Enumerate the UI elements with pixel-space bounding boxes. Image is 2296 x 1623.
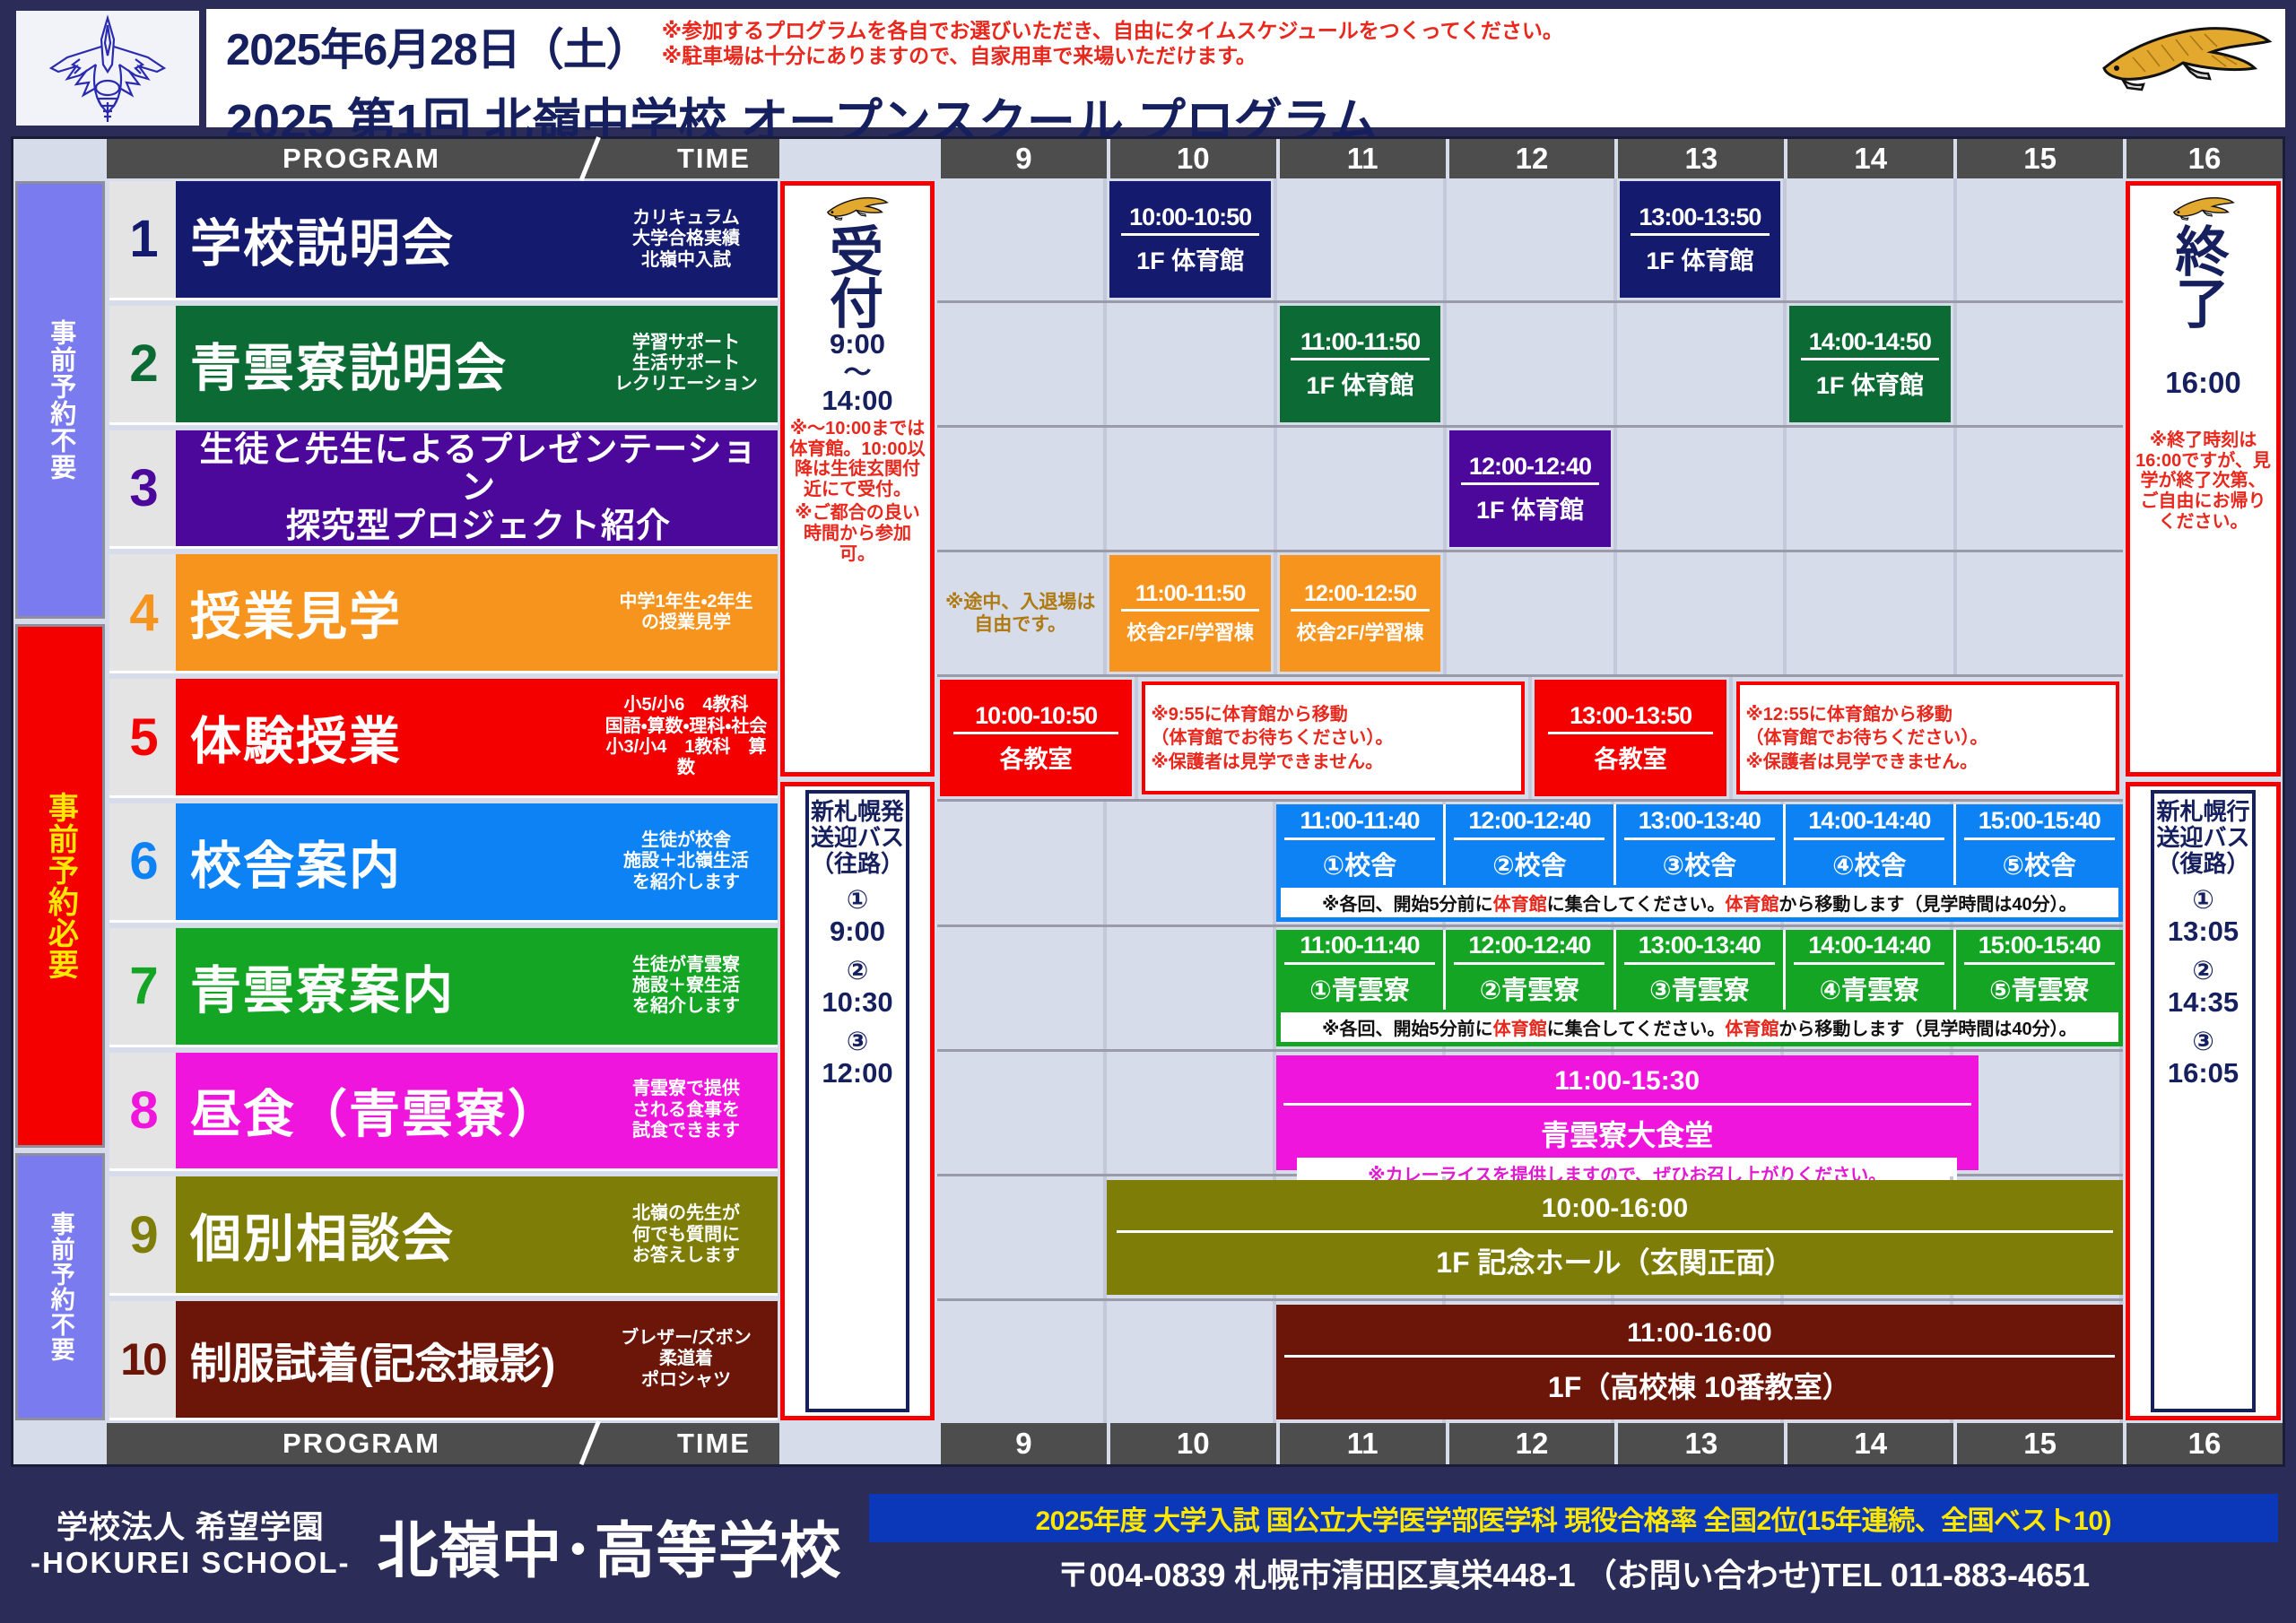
consultation-block[interactable]: 10:00-16:00 1F 記念ホール（玄関正面） (1107, 1180, 2123, 1295)
flying-bird-icon (2171, 193, 2236, 225)
program-row-5[interactable]: 5 体験授業 小5/小6 4教科 国語・算数・理科・社会 小3/小4 1教科 算… (109, 679, 778, 798)
program-name: 体験授業 (176, 679, 598, 795)
reception-time-tilde: 〜 (844, 359, 872, 387)
return-bus-title: 新札幌行 送迎バス （復路） (2156, 799, 2249, 877)
program-name: 青雲寮案内 (176, 928, 598, 1045)
poster-root: 2025年6月28日（土） ※参加するプログラムを各自でお選びいただき、自由にタ… (0, 0, 2296, 1623)
program-row-2[interactable]: 2 青雲寮説明会 学習サポート 生活サポート レクリエーション (109, 306, 778, 425)
slot-cell (1787, 552, 1956, 674)
slot-cell (1957, 303, 2123, 425)
campus-tour-block[interactable]: 11:00-11:40 ①校舎 12:00-12:40 ②校舎 13:00-13… (1276, 804, 2123, 921)
reservation-column: 事前予約不要 事前予約必要 事前予約不要 (13, 139, 107, 1464)
dorm-tour-slot-2[interactable]: 12:00-12:40 ②青雲寮 (1446, 930, 1615, 1010)
slot-cell (937, 1176, 1107, 1298)
slot-cell (1617, 428, 1787, 550)
slot-cell (937, 1052, 1107, 1174)
event-class-visit-1200[interactable]: 12:00-12:50 校舎2F/学習棟 (1280, 555, 1440, 672)
dorm-tour-slot-5[interactable]: 15:00-15:40 ⑤青雲寮 (1956, 930, 2123, 1010)
footer-program-time: PROGRAM TIME (107, 1423, 779, 1464)
program-row-9[interactable]: 9 個別相談会 北嶺の先生が 何でも質問に お答えします (109, 1176, 778, 1296)
flying-bird-icon (2097, 22, 2276, 97)
reception-time-to: 14:00 (822, 386, 892, 415)
reservation-group-booking-required: 事前予約必要 (15, 624, 105, 1148)
dorm-tour-block[interactable]: 11:00-11:40 ①青雲寮 12:00-12:40 ②青雲寮 13:00-… (1276, 930, 2123, 1046)
program-name: 制服試着(記念撮影) (176, 1301, 598, 1418)
return-bus-no-2: ② (2192, 955, 2214, 986)
ending-column: 終 了 16:00 ※終了時刻は16:00ですが、見学が終了次第、ご自由にお帰り… (2123, 178, 2283, 1423)
program-name: 授業見学 (176, 554, 598, 671)
reception-word-2: 付 (830, 279, 885, 331)
grid-footer-row: PROGRAM TIME 9 10 11 12 13 14 15 16 (107, 1423, 2283, 1464)
campus-tour-slot-1[interactable]: 11:00-11:40 ①校舎 (1276, 804, 1446, 884)
program-subtext: 学習サポート 生活サポート レクリエーション (598, 306, 778, 422)
ending-word-2: 了 (2176, 279, 2231, 331)
slot-cell (937, 927, 1107, 1049)
campus-tour-slot-3[interactable]: 13:00-13:40 ③校舎 (1616, 804, 1786, 884)
consultation-time: 10:00-16:00 (1117, 1193, 2112, 1233)
reception-note-2: ※ご都合の良い時間から参加可。 (787, 499, 928, 564)
col-header-program: PROGRAM (283, 143, 440, 175)
outbound-bus-time-3: 12:00 (822, 1057, 892, 1089)
slot-cell (1107, 927, 1276, 1049)
event-school-briefing-1300[interactable]: 13:00-13:50 1F 体育館 (1620, 181, 1780, 298)
slot-cell[interactable]: 12:00-12:50 校舎2F/学習棟 (1277, 552, 1447, 674)
hour-footer-9: 9 (937, 1423, 1107, 1464)
slot-cell: ※途中、入退場は自由です。 (937, 552, 1107, 674)
slot-cell: ※9:55に体育館から移動 （体育館でお待ちください）。 ※保護者は見学できませ… (1138, 677, 1532, 799)
event-date: 2025年6月28日（土） (206, 13, 649, 78)
class-visit-note: ※途中、入退場は自由です。 (940, 555, 1100, 672)
slot-cell (1447, 178, 1616, 300)
program-row-6[interactable]: 6 校舎案内 生徒が校舎 施設＋北嶺生活 を紹介します (109, 803, 778, 923)
outbound-bus-box: 新札幌発 送迎バス （往路） ① 9:00 ② 10:30 ③ 12:00 (780, 782, 935, 1420)
slot-cell (1107, 303, 1276, 425)
ending-note: ※終了時刻は16:00ですが、見学が終了次第、ご自由にお帰りください。 (2132, 400, 2274, 532)
program-name: 生徒と先生によるプレゼンテーション 探究型プロジェクト紹介 (176, 430, 778, 547)
uniform-fitting-block[interactable]: 11:00-16:00 1F（高校棟 10番教室） (1276, 1305, 2123, 1419)
slot-cell (1617, 552, 1787, 674)
slot-row-1: 10:00-10:50 1F 体育館 13:00-13:50 1F 体育館 (937, 178, 2123, 303)
slot-cell[interactable]: 10:00-10:50 各教室 (937, 677, 1138, 799)
slot-cell (1617, 303, 1787, 425)
program-subtext: 中学1年生・2年生 の授業見学 (598, 554, 778, 671)
program-name: 学校説明会 (176, 181, 598, 298)
footer-address: 〒004-0839 札幌市清田区真栄448-1 （お問い合わせ)TEL 011-… (869, 1542, 2278, 1596)
col-header-time: TIME (677, 143, 751, 175)
timeslot-column: 10:00-10:50 1F 体育館 13:00-13:50 1F 体育館 (937, 178, 2123, 1423)
footer: 学校法人 希望学園 -HOKUREI SCHOOL- 北嶺中･高等学校 2025… (0, 1467, 2296, 1623)
event-dorm-briefing-1400[interactable]: 14:00-14:50 1F 体育館 (1789, 306, 1950, 422)
program-name: 校舎案内 (176, 803, 598, 920)
program-number: 10 (109, 1301, 176, 1418)
program-name-column: 1 学校説明会 カリキュラム 大学合格実績 北嶺中入試 2 青雲寮説明会 学習サ… (107, 178, 779, 1423)
trial-lesson-warning-am: ※9:55に体育館から移動 （体育館でお待ちください）。 ※保護者は見学できませ… (1142, 681, 1525, 794)
slot-cell (937, 1301, 1107, 1423)
achievement-banner: 2025年度 大学入試 国公立大学医学部医学科 現役合格率 全国2位(15年連続… (869, 1494, 2278, 1542)
slot-cell[interactable]: 11:00-11:50 1F 体育館 (1277, 303, 1447, 425)
program-number: 4 (109, 554, 176, 671)
header-program-time: PROGRAM TIME (107, 139, 779, 178)
program-number: 8 (109, 1053, 176, 1169)
flying-bird-icon (825, 193, 890, 225)
event-school-briefing-1000[interactable]: 10:00-10:50 1F 体育館 (1109, 181, 1270, 298)
slot-cell (1787, 178, 1956, 300)
campus-tour-slot-2[interactable]: 12:00-12:40 ②校舎 (1446, 804, 1615, 884)
program-name: 青雲寮説明会 (176, 306, 598, 422)
header-note-2: ※駐車場は十分にありますので、自家用車で来場いただけます。 (662, 43, 1563, 68)
hour-footer-16: 16 (2123, 1423, 2283, 1464)
slot-cell (1107, 802, 1276, 924)
slot-row-9: 10:00-16:00 1F 記念ホール（玄関正面） (937, 1176, 2123, 1301)
slot-cell (1957, 178, 2123, 300)
hour-header-10: 10 (1107, 139, 1276, 178)
hour-header-11: 11 (1276, 139, 1446, 178)
return-bus-no-3: ③ (2192, 1026, 2214, 1057)
slot-cell (1277, 428, 1447, 550)
program-number: 1 (109, 181, 176, 298)
ending-time: 16:00 (2165, 366, 2240, 400)
slot-cell[interactable]: 12:00-12:40 1F 体育館 (1447, 428, 1616, 550)
dorm-tour-slot-1[interactable]: 11:00-11:40 ①青雲寮 (1276, 930, 1446, 1010)
lunch-block[interactable]: 11:00-15:30 青雲寮大食堂 ※カレーライスを提供しますので、ぜひお召し… (1276, 1055, 1979, 1170)
program-row-1[interactable]: 1 学校説明会 カリキュラム 大学合格実績 北嶺中入試 (109, 181, 778, 300)
reception-word-1: 受 (830, 227, 885, 279)
ending-word-1: 終 (2176, 227, 2231, 279)
outbound-bus-no-3: ③ (847, 1026, 869, 1057)
hour-header-14: 14 (1784, 139, 1953, 178)
slot-cell (1957, 428, 2123, 550)
slot-cell (1277, 178, 1447, 300)
slot-row-4: ※途中、入退場は自由です。 11:00-11:50 校舎2F/学習棟 12:00… (937, 552, 2123, 677)
program-number: 2 (109, 306, 176, 422)
col-footer-time: TIME (677, 1428, 751, 1460)
slot-row-8: 11:00-15:30 青雲寮大食堂 ※カレーライスを提供しますので、ぜひお召し… (937, 1052, 2123, 1176)
outbound-bus-title: 新札幌発 送迎バス （往路） (811, 799, 904, 877)
outbound-bus-no-1: ① (847, 884, 869, 916)
lunch-time: 11:00-15:30 (1283, 1066, 1971, 1106)
slot-cell (1787, 428, 1956, 550)
ending-box: 終 了 16:00 ※終了時刻は16:00ですが、見学が終了次第、ご自由にお帰り… (2126, 181, 2281, 777)
header: 2025年6月28日（土） ※参加するプログラムを各自でお選びいただき、自由にタ… (0, 0, 2296, 136)
slot-cell: ※12:55に体育館から移動 （体育館でお待ちください）。 ※保護者は見学できま… (1733, 677, 2123, 799)
return-bus-time-2: 14:35 (2168, 986, 2239, 1019)
slot-row-6: 11:00-11:40 ①校舎 12:00-12:40 ②校舎 13:00-13… (937, 802, 2123, 926)
outbound-bus-time-2: 10:30 (822, 986, 892, 1019)
slot-cell[interactable]: 14:00-14:50 1F 体育館 (1787, 303, 1956, 425)
campus-tour-slot-4[interactable]: 14:00-14:40 ④校舎 (1786, 804, 1955, 884)
slot-cell[interactable]: 13:00-13:50 各教室 (1532, 677, 1733, 799)
reservation-group-no-booking-2: 事前予約不要 (15, 1153, 105, 1420)
reservation-group-no-booking-1: 事前予約不要 (15, 181, 105, 619)
slot-row-7: 11:00-11:40 ①青雲寮 12:00-12:40 ②青雲寮 13:00-… (937, 927, 2123, 1052)
program-subtext: 生徒が青雲寮 施設＋寮生活 を紹介します (598, 928, 778, 1045)
program-subtext: 青雲寮で提供 される食事を 試食できます (598, 1053, 778, 1169)
program-name: 個別相談会 (176, 1176, 598, 1293)
reception-time-from: 9:00 (830, 330, 885, 359)
slot-row-3: 12:00-12:40 1F 体育館 (937, 428, 2123, 552)
program-number: 5 (109, 679, 176, 795)
outbound-bus-inner: 新札幌発 送迎バス （往路） ① 9:00 ② 10:30 ③ 12:00 (805, 790, 909, 1412)
hour-header-12: 12 (1446, 139, 1615, 178)
slot-cell (937, 802, 1107, 924)
school-crest-icon (16, 11, 199, 126)
header-note-1: ※参加するプログラムを各自でお選びいただき、自由にタイムスケジュールをつくってく… (662, 18, 1563, 43)
footer-left: 学校法人 希望学園 -HOKUREI SCHOOL- 北嶺中･高等学校 (0, 1501, 842, 1590)
slash-divider-icon (579, 1420, 601, 1465)
slot-cell (1107, 1052, 1276, 1174)
program-subtext: 生徒が校舎 施設＋北嶺生活 を紹介します (598, 803, 778, 920)
hour-header-13: 13 (1614, 139, 1784, 178)
footer-organization: 学校法人 希望学園 -HOKUREI SCHOOL- (30, 1510, 351, 1580)
outbound-bus-no-2: ② (847, 955, 869, 986)
uniform-time: 11:00-16:00 (1284, 1318, 2114, 1358)
program-number: 3 (109, 430, 176, 547)
slot-cell (937, 178, 1107, 300)
grid-header-row: PROGRAM TIME 9 10 11 12 13 14 15 16 (107, 139, 2283, 178)
slot-cell (1107, 428, 1276, 550)
campus-tour-slot-5[interactable]: 15:00-15:40 ⑤校舎 (1956, 804, 2123, 884)
program-subtext: ブレザー/ズボン 柔道着 ポロシャツ (598, 1301, 778, 1418)
hour-footer-14: 14 (1784, 1423, 1953, 1464)
return-bus-no-1: ① (2192, 884, 2214, 916)
footer-org-jp: 学校法人 希望学園 (30, 1510, 351, 1546)
program-subtext: 小5/小6 4教科 国語・算数・理科・社会 小3/小4 1教科 算数 (598, 679, 778, 795)
event-class-visit-1100[interactable]: 11:00-11:50 校舎2F/学習棟 (1109, 555, 1270, 672)
col-footer-program: PROGRAM (283, 1428, 440, 1460)
program-row-8[interactable]: 8 昼食（青雲寮） 青雲寮で提供 される食事を 試食できます (109, 1053, 778, 1172)
hour-footer-12: 12 (1446, 1423, 1615, 1464)
footer-school-name: 北嶺中･高等学校 (378, 1501, 842, 1590)
hour-header-15: 15 (1953, 139, 2123, 178)
return-bus-inner: 新札幌行 送迎バス （復路） ① 13:05 ② 14:35 ③ 16:05 (2151, 790, 2255, 1412)
trial-lesson-warning-pm: ※12:55に体育館から移動 （体育館でお待ちください）。 ※保護者は見学できま… (1736, 681, 2119, 794)
program-row-10[interactable]: 10 制服試着(記念撮影) ブレザー/ズボン 柔道着 ポロシャツ (109, 1301, 778, 1420)
program-row-7[interactable]: 7 青雲寮案内 生徒が青雲寮 施設＋寮生活 を紹介します (109, 928, 778, 1047)
event-dorm-briefing-1100[interactable]: 11:00-11:50 1F 体育館 (1280, 306, 1440, 422)
footer-right: 2025年度 大学入試 国公立大学医学部医学科 現役合格率 全国2位(15年連続… (842, 1494, 2296, 1596)
hour-footer-13: 13 (1614, 1423, 1784, 1464)
program-subtext: カリキュラム 大学合格実績 北嶺中入試 (598, 181, 778, 298)
dorm-tour-note: ※各回、開始5分前に体育館に集合してください。体育館から移動します（見学時間は4… (1281, 1012, 2118, 1042)
slot-cell (1957, 552, 2123, 674)
slot-row-5: 10:00-10:50 各教室 ※9:55に体育館から移動 （体育館でお待ちくだ… (937, 677, 2123, 802)
slot-cell[interactable]: 10:00-10:50 1F 体育館 (1107, 178, 1276, 300)
footer-org-en: -HOKUREI SCHOOL- (30, 1546, 351, 1580)
schedule-board: 事前予約不要 事前予約必要 事前予約不要 PROGRAM TIME 9 10 1… (11, 136, 2285, 1467)
slot-cell[interactable]: 13:00-13:50 1F 体育館 (1617, 178, 1787, 300)
slot-cell (1953, 1052, 2123, 1174)
outbound-bus-time-1: 9:00 (830, 916, 885, 948)
slot-cell (937, 428, 1107, 550)
program-row-3[interactable]: 3 生徒と先生によるプレゼンテーション 探究型プロジェクト紹介 (109, 430, 778, 550)
slot-cell[interactable]: 11:00-11:50 校舎2F/学習棟 (1107, 552, 1276, 674)
reception-note-1: ※〜10:00までは体育館。10:00以降は生徒玄関付近にて受付。 (787, 415, 928, 499)
reception-box: 受 付 9:00 〜 14:00 ※〜10:00までは体育館。10:00以降は生… (780, 181, 935, 777)
lunch-place: 青雲寮大食堂 (1541, 1106, 1713, 1154)
slash-divider-icon (579, 136, 601, 181)
dorm-tour-slot-3[interactable]: 13:00-13:40 ③青雲寮 (1616, 930, 1786, 1010)
slot-cell (1447, 552, 1616, 674)
header-main: 2025年6月28日（土） ※参加するプログラムを各自でお選びいただき、自由にタ… (206, 9, 2285, 127)
schedule-grid: PROGRAM TIME 9 10 11 12 13 14 15 16 (107, 139, 2283, 1464)
hour-footer-15: 15 (1953, 1423, 2123, 1464)
program-number: 7 (109, 928, 176, 1045)
slot-row-2: 11:00-11:50 1F 体育館 14:00-14:50 1F 体育館 (937, 303, 2123, 428)
event-trial-lesson-1300[interactable]: 13:00-13:50 各教室 (1535, 680, 1726, 796)
event-presentation-1200[interactable]: 12:00-12:40 1F 体育館 (1449, 430, 1610, 547)
program-number: 6 (109, 803, 176, 920)
return-bus-box: 新札幌行 送迎バス （復路） ① 13:05 ② 14:35 ③ 16:05 (2126, 782, 2281, 1420)
slot-cell (1447, 303, 1616, 425)
return-bus-time-1: 13:05 (2168, 916, 2239, 948)
hour-header-9: 9 (937, 139, 1107, 178)
event-trial-lesson-1000[interactable]: 10:00-10:50 各教室 (940, 680, 1132, 796)
return-bus-time-3: 16:05 (2168, 1057, 2239, 1089)
campus-tour-note: ※各回、開始5分前に体育館に集合してください。体育館から移動します（見学時間は4… (1281, 888, 2118, 917)
slot-cell (1107, 1301, 1276, 1423)
dorm-tour-slot-4[interactable]: 14:00-14:40 ④青雲寮 (1786, 930, 1955, 1010)
slot-cell (937, 303, 1107, 425)
hour-header-16: 16 (2123, 139, 2283, 178)
uniform-place: 1F（高校棟 10番教室） (1548, 1358, 1851, 1406)
program-subtext: 北嶺の先生が 何でも質問に お答えします (598, 1176, 778, 1293)
slot-row-10: 11:00-16:00 1F（高校棟 10番教室） (937, 1301, 2123, 1423)
hour-footer-11: 11 (1276, 1423, 1446, 1464)
hour-footer-10: 10 (1107, 1423, 1276, 1464)
reception-column: 受 付 9:00 〜 14:00 ※〜10:00までは体育館。10:00以降は生… (779, 178, 937, 1423)
header-notes: ※参加するプログラムを各自でお選びいただき、自由にタイムスケジュールをつくってく… (662, 13, 1563, 68)
consultation-place: 1F 記念ホール（玄関正面） (1436, 1233, 1793, 1281)
grid-body: 1 学校説明会 カリキュラム 大学合格実績 北嶺中入試 2 青雲寮説明会 学習サ… (107, 178, 2283, 1423)
program-number: 9 (109, 1176, 176, 1293)
program-name: 昼食（青雲寮） (176, 1053, 598, 1169)
program-row-4[interactable]: 4 授業見学 中学1年生・2年生 の授業見学 (109, 554, 778, 673)
